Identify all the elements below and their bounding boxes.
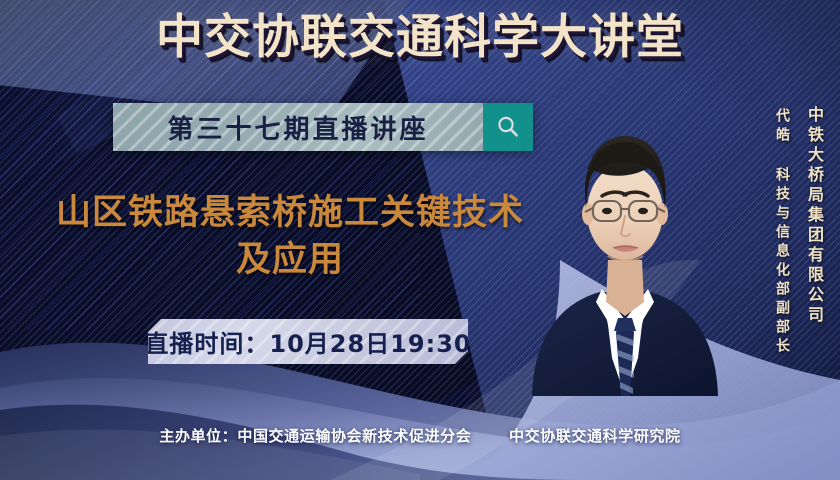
organizer-secondary: 中交协联交通科学研究院 [509,427,681,445]
page-title: 中交协联交通科学大讲堂 [0,14,840,61]
speaker-company: 中铁大桥局集团有限公司 [802,106,826,326]
lecture-title-line1: 山区铁路悬索桥施工关键技术 [30,190,550,237]
organizer-primary: 主办单位：中国交通运输协会新技术促进分会 [159,427,471,445]
series-label: 第三十七期直播讲座 [167,109,428,146]
series-bar-body: 第三十七期直播讲座 [113,103,483,151]
webinar-poster: 中交协联交通科学大讲堂 第三十七期直播讲座 山区铁路悬索桥施工关键技术 及应用 … [0,0,840,480]
lecture-title: 山区铁路悬索桥施工关键技术 及应用 [30,190,550,284]
schedule-badge: 直播时间：10月28日19:30 [148,319,468,364]
lecture-title-line2: 及应用 [30,237,550,284]
speaker-portrait [520,96,730,396]
speaker-name-role: 代皓 科技与信息化部副部长 [772,108,792,357]
series-bar[interactable]: 第三十七期直播讲座 [113,103,533,151]
schedule-text: 直播时间：10月28日19:30 [148,324,468,359]
organizer-footer: 主办单位：中国交通运输协会新技术促进分会 中交协联交通科学研究院 [0,425,840,446]
search-icon [494,113,522,141]
